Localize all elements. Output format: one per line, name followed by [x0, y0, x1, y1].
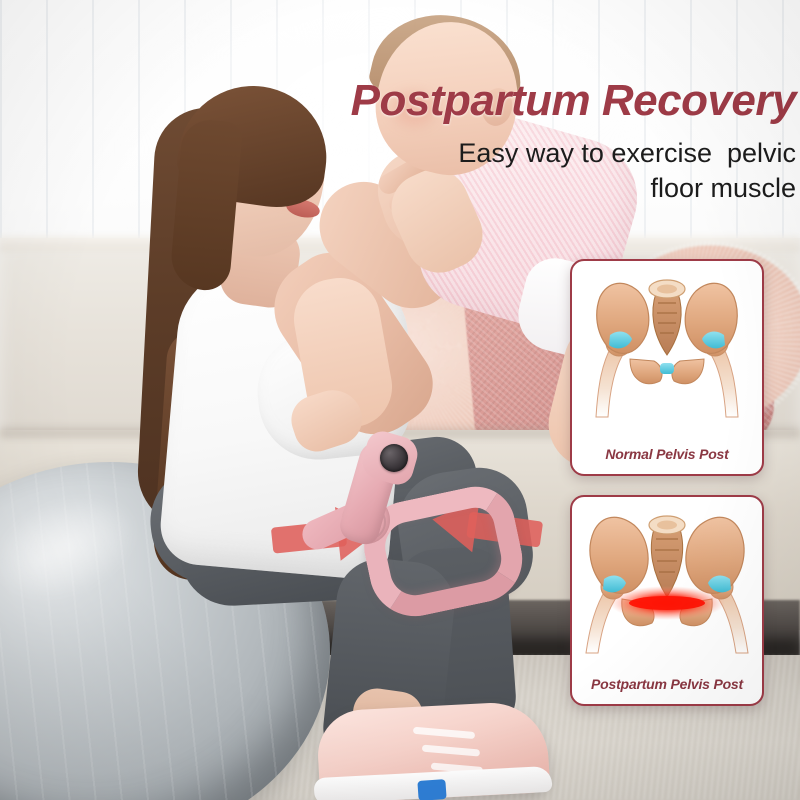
shoe-lace — [413, 727, 475, 739]
sneaker-tag — [417, 779, 446, 800]
panel-caption-normal: Normal Pelvis Post — [572, 446, 762, 462]
pelvic-floor-trainer-device — [336, 438, 486, 570]
panel-caption-postpartum: Postpartum Pelvis Post — [572, 676, 762, 692]
shoe-lace — [422, 745, 480, 757]
pelvis-normal-icon — [572, 267, 762, 419]
device-dial-icon — [380, 444, 408, 472]
pain-core — [629, 596, 705, 610]
panel-normal-pelvis: Normal Pelvis Post — [570, 259, 764, 476]
panel-postpartum-pelvis: Postpartum Pelvis Post — [570, 495, 764, 706]
product-marketing-image: Postpartum Recovery Easy way to exercise… — [0, 0, 800, 800]
pelvis-postpartum-icon — [572, 503, 762, 655]
page-title: Postpartum Recovery — [300, 78, 796, 124]
page-subtitle: Easy way to exercise pelvic floor muscle — [360, 136, 796, 205]
